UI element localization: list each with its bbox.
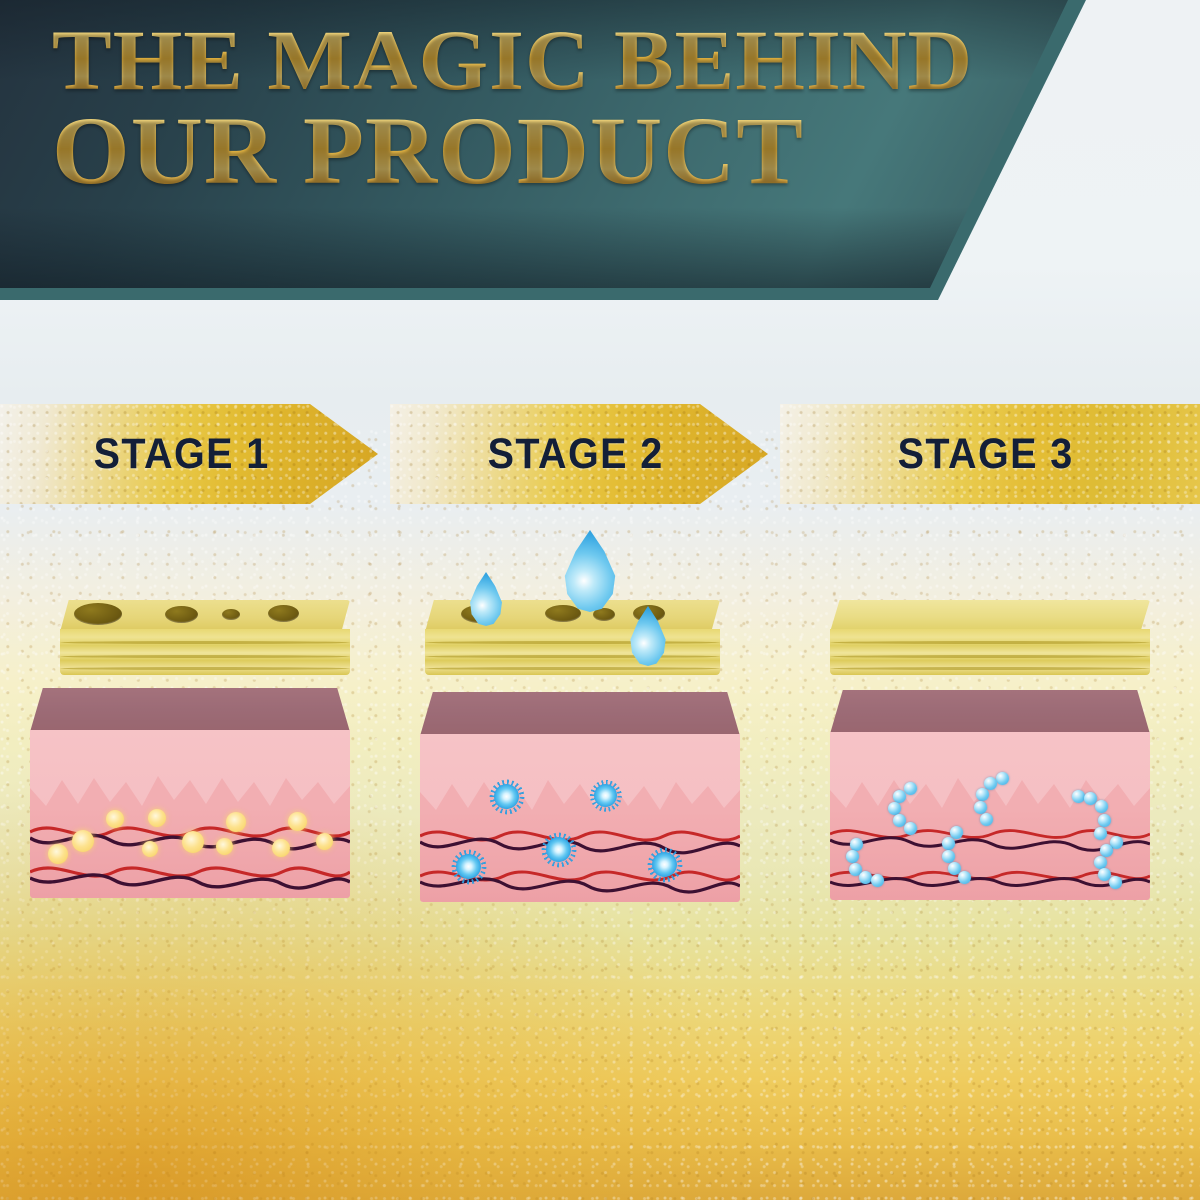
bead <box>1109 876 1122 889</box>
collagen-marker <box>288 812 307 831</box>
bead <box>976 788 989 801</box>
hyaluronic-bead-chain <box>940 826 980 888</box>
stage-column-1: Dehydrated skin, lack of collagen & expa… <box>10 520 400 870</box>
collagen-marker <box>106 810 124 828</box>
stage-label-3: STAGE 3 <box>898 404 1074 504</box>
hyaluronic-bead-chain <box>846 838 886 892</box>
collagen-marker <box>216 838 233 855</box>
title-line-2: OUR PRODUCT <box>52 101 1040 201</box>
stage-column-3: Hydrated, nourished, brighter, smoother … <box>805 520 1195 870</box>
stratum-side-face <box>830 629 1150 675</box>
collagen-marker <box>316 833 333 850</box>
stratum-ridge <box>425 641 720 644</box>
collagen-marker <box>72 830 94 852</box>
hyaluronic-bead-chain <box>972 772 1018 832</box>
stratum-corneum-layer <box>60 600 350 678</box>
bead <box>846 850 859 863</box>
collagen-marker <box>48 844 68 864</box>
stratum-corneum-layer <box>830 600 1150 678</box>
bead <box>904 822 917 835</box>
bead <box>871 874 884 887</box>
nutrient-particle <box>652 852 677 877</box>
hyaluronic-bead-chain <box>1088 836 1130 894</box>
page-title: THE MAGIC BEHIND OUR PRODUCT <box>52 16 1002 201</box>
hyaluronic-bead-chain <box>888 782 932 838</box>
stage-label-1: STAGE 1 <box>94 404 270 504</box>
skin-pore <box>268 605 299 622</box>
water-droplet-large <box>560 530 620 612</box>
poster-canvas: THE MAGIC BEHIND OUR PRODUCT STAGE 1 STA… <box>0 0 1200 1200</box>
droplet-shape <box>560 530 620 612</box>
collagen-marker <box>142 841 158 857</box>
stratum-ridge <box>425 667 720 670</box>
skin-block <box>830 690 1150 902</box>
skin-diagram-stage-1 <box>10 520 400 870</box>
skin-top-face <box>30 688 350 732</box>
skin-pore <box>165 606 198 623</box>
bead <box>904 782 917 795</box>
stratum-top-face <box>830 600 1150 632</box>
bead <box>942 837 955 850</box>
nutrient-particle <box>456 854 481 879</box>
stage-column-2: Infusion of nutrients, vitamins & water-… <box>405 520 795 870</box>
skin-block <box>420 692 740 904</box>
bead <box>1098 814 1111 827</box>
bead <box>1100 844 1113 857</box>
collagen-marker <box>182 831 204 853</box>
stratum-ridge <box>60 655 350 658</box>
skin-diagram-stage-3 <box>805 520 1195 870</box>
bead <box>958 871 971 884</box>
water-droplet-small <box>467 572 505 626</box>
bead <box>980 813 993 826</box>
water-droplet-medium <box>627 606 669 666</box>
title-line-1: THE MAGIC BEHIND <box>52 16 1040 105</box>
collagen-marker <box>226 812 246 832</box>
stratum-ridge <box>830 667 1150 670</box>
stratum-side-face <box>425 629 720 675</box>
nutrient-particle <box>494 784 519 809</box>
collagen-marker <box>148 809 166 827</box>
skin-pore <box>222 609 240 620</box>
stratum-ridge <box>60 667 350 670</box>
skin-top-face <box>420 692 740 736</box>
droplet-shape <box>627 606 669 666</box>
skin-diagram-stage-2 <box>405 520 795 870</box>
skin-pore <box>74 603 122 625</box>
stage-progress-band: STAGE 1 STAGE 2 STAGE 3 <box>0 404 1200 504</box>
bead <box>1072 790 1085 803</box>
stratum-ridge <box>830 655 1150 658</box>
stratum-ridge <box>425 655 720 658</box>
nutrient-particle <box>546 837 571 862</box>
stratum-ridge <box>60 641 350 644</box>
stratum-side-face <box>60 629 350 675</box>
skin-block <box>30 688 350 900</box>
bead <box>859 871 872 884</box>
stratum-ridge <box>830 641 1150 644</box>
header-banner: THE MAGIC BEHIND OUR PRODUCT <box>0 0 1090 305</box>
stage-label-2: STAGE 2 <box>488 404 664 504</box>
bead <box>996 772 1009 785</box>
nutrient-particle <box>594 784 617 807</box>
collagen-marker <box>272 839 290 857</box>
skin-top-face <box>830 690 1150 734</box>
bead <box>1095 800 1108 813</box>
droplet-shape <box>467 572 505 626</box>
